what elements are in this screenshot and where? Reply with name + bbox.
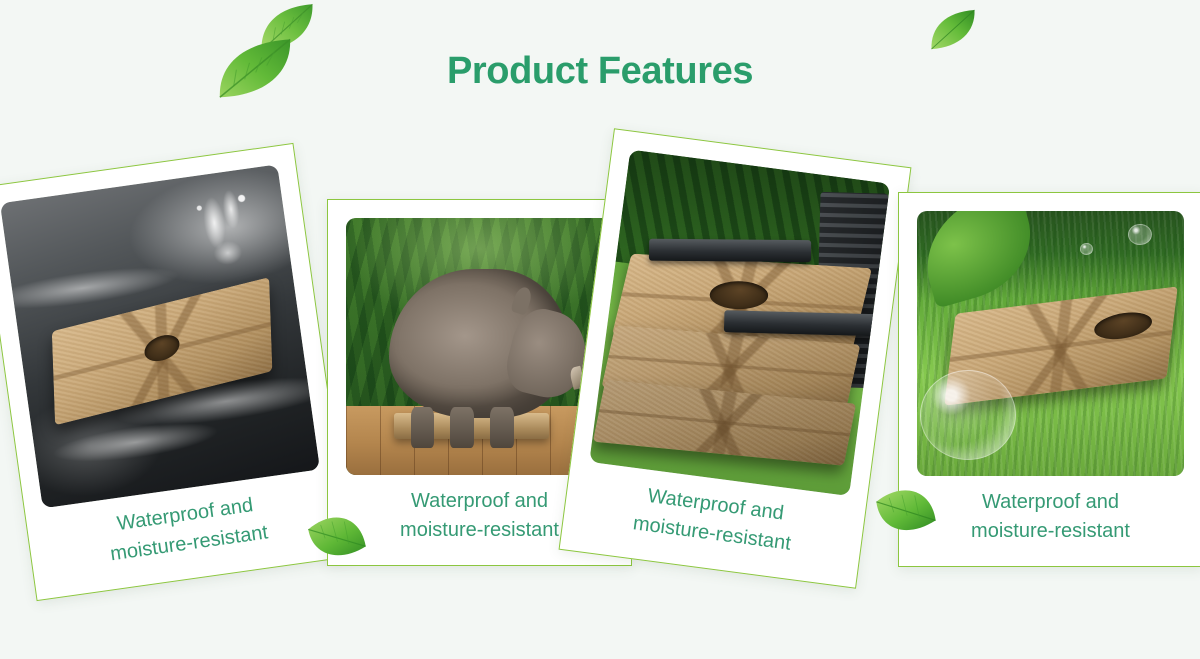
feature-card-3[interactable]: Waterproof and moisture-resistant xyxy=(559,128,912,589)
feature-card-4-caption: Waterproof and moisture-resistant xyxy=(917,476,1184,556)
leaf-top-left-small-icon xyxy=(258,2,316,54)
leaf-top-right-icon xyxy=(928,8,978,52)
page-title: Product Features xyxy=(0,50,1200,93)
product-features-section: Product Features xyxy=(0,0,1200,659)
feature-card-3-image xyxy=(589,150,890,497)
feature-card-4[interactable]: Waterproof and moisture-resistant xyxy=(898,192,1200,567)
feature-card-4-image xyxy=(917,211,1184,476)
feature-card-1-image xyxy=(0,164,320,508)
feature-card-1[interactable]: Waterproof and moisture-resistant xyxy=(0,143,352,601)
